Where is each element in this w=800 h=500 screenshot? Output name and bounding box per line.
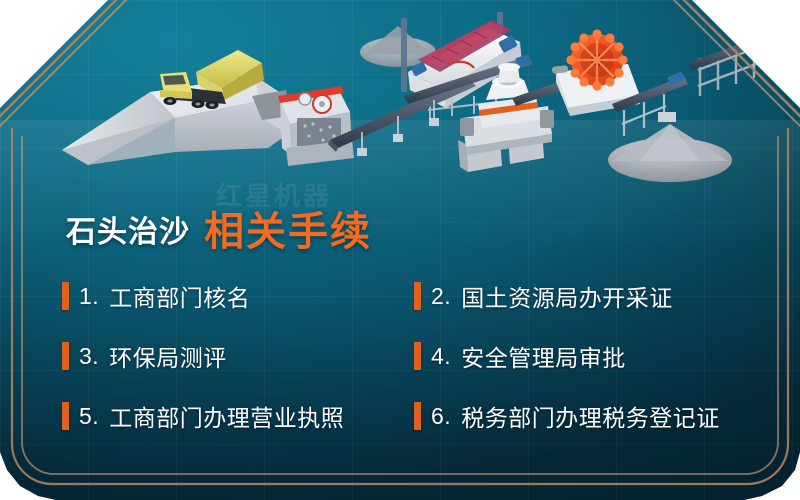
list-item-index: 3. <box>79 343 99 370</box>
list-item: 2. 国土资源局办开采证 <box>414 266 800 326</box>
support-trestle <box>698 40 756 96</box>
list-item: 3. 环保局测评 <box>62 326 414 386</box>
list-item: 4. 安全管理局审批 <box>414 326 800 386</box>
banner-stage: 红星机器 石头治沙 相关手续 1. 工商部门核名 2. 国土资源局办开采证 3.… <box>0 0 800 500</box>
production-line-illustration <box>0 0 800 210</box>
list-item: 5. 工商部门办理营业执照 <box>62 386 414 446</box>
list-item-index: 5. <box>79 403 99 430</box>
list-item-label: 税务部门办理税务登记证 <box>461 399 720 433</box>
list-item-index: 2. <box>431 283 451 310</box>
list-item-label: 工商部门核名 <box>109 279 250 313</box>
bullet-marker-icon <box>62 342 69 370</box>
title-primary: 石头治沙 <box>66 207 190 251</box>
banner-title: 石头治沙 相关手续 <box>66 196 372 254</box>
list-item: 1. 工商部门核名 <box>62 266 414 326</box>
bullet-marker-icon <box>414 282 421 310</box>
gravel-pile-right <box>608 124 732 182</box>
bullet-marker-icon <box>62 282 69 310</box>
title-accent: 相关手续 <box>204 199 372 257</box>
list-item-label: 国土资源局办开采证 <box>461 279 673 313</box>
list-item: 6. 税务部门办理税务登记证 <box>414 386 800 446</box>
list-item-label: 环保局测评 <box>109 339 227 373</box>
list-item-index: 1. <box>79 283 99 310</box>
bullet-marker-icon <box>414 342 421 370</box>
list-item-label: 工商部门办理营业执照 <box>109 399 344 433</box>
bullet-marker-icon <box>414 402 421 430</box>
list-item-label: 安全管理局审批 <box>461 339 626 373</box>
list-item-index: 4. <box>431 343 451 370</box>
conveyor-far-right <box>690 34 770 70</box>
list-item-index: 6. <box>431 403 451 430</box>
jaw-crusher <box>278 86 354 166</box>
procedure-list: 1. 工商部门核名 2. 国土资源局办开采证 3. 环保局测评 4. 安全管理局… <box>0 266 800 466</box>
bullet-marker-icon <box>62 402 69 430</box>
